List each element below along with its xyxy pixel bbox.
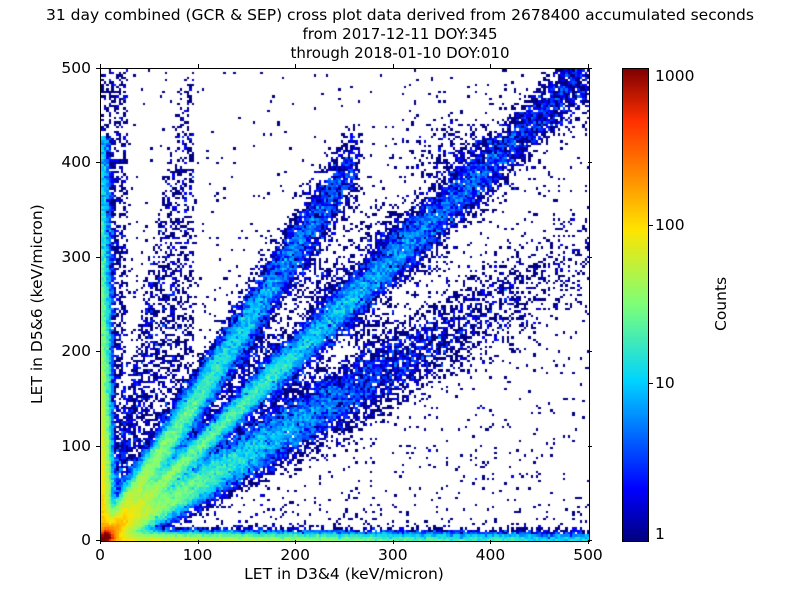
x-tick-label-200: 200 bbox=[280, 546, 310, 564]
y-tick-400 bbox=[96, 162, 100, 163]
y-tick-0 bbox=[96, 540, 100, 541]
y-axis-label: LET in D5&6 (keV/micron) bbox=[28, 204, 46, 404]
colorbar-tick-label-100: 100 bbox=[655, 216, 685, 234]
y-tick-label-400: 400 bbox=[0, 153, 91, 171]
title-line-2: from 2017-12-11 DOY:345 bbox=[0, 25, 800, 44]
x-tick-0 bbox=[100, 540, 101, 544]
title-line-3: through 2018-01-10 DOY:010 bbox=[0, 44, 800, 63]
x-axis-label: LET in D3&4 (keV/micron) bbox=[100, 565, 588, 583]
y-tick-right-0 bbox=[588, 540, 592, 541]
chart-title: 31 day combined (GCR & SEP) cross plot d… bbox=[0, 6, 800, 63]
y-tick-label-0: 0 bbox=[0, 531, 91, 549]
colorbar-tick-10 bbox=[648, 383, 653, 384]
colorbar-gradient bbox=[623, 69, 648, 541]
x-tick-label-100: 100 bbox=[183, 546, 213, 564]
y-tick-right-300 bbox=[588, 257, 592, 258]
x-tick-top-300 bbox=[393, 64, 394, 68]
heatmap-canvas bbox=[101, 69, 589, 541]
colorbar-tick-label-1000: 1000 bbox=[655, 67, 694, 85]
colorbar-tick-label-10: 10 bbox=[655, 374, 675, 392]
y-tick-100 bbox=[96, 446, 100, 447]
x-tick-300 bbox=[393, 540, 394, 544]
y-tick-label-500: 500 bbox=[0, 59, 91, 77]
y-tick-500 bbox=[96, 68, 100, 69]
y-tick-200 bbox=[96, 351, 100, 352]
x-tick-label-400: 400 bbox=[476, 546, 506, 564]
x-tick-label-0: 0 bbox=[95, 546, 105, 564]
x-tick-top-200 bbox=[295, 64, 296, 68]
figure-canvas: 31 day combined (GCR & SEP) cross plot d… bbox=[0, 0, 800, 600]
colorbar-label: Counts bbox=[712, 277, 730, 331]
y-tick-300 bbox=[96, 257, 100, 258]
colorbar[interactable] bbox=[622, 68, 649, 542]
x-tick-label-300: 300 bbox=[378, 546, 408, 564]
x-tick-top-100 bbox=[198, 64, 199, 68]
title-line-1: 31 day combined (GCR & SEP) cross plot d… bbox=[0, 6, 800, 25]
colorbar-tick-label-1: 1 bbox=[655, 525, 665, 543]
x-tick-top-400 bbox=[490, 64, 491, 68]
x-tick-400 bbox=[490, 540, 491, 544]
y-tick-right-200 bbox=[588, 351, 592, 352]
y-tick-label-100: 100 bbox=[0, 437, 91, 455]
plot-area[interactable] bbox=[100, 68, 590, 542]
x-tick-100 bbox=[198, 540, 199, 544]
y-tick-right-100 bbox=[588, 446, 592, 447]
x-tick-top-0 bbox=[100, 64, 101, 68]
y-tick-right-500 bbox=[588, 68, 592, 69]
colorbar-tick-100 bbox=[648, 225, 653, 226]
x-tick-200 bbox=[295, 540, 296, 544]
x-tick-label-500: 500 bbox=[573, 546, 603, 564]
y-tick-right-400 bbox=[588, 162, 592, 163]
